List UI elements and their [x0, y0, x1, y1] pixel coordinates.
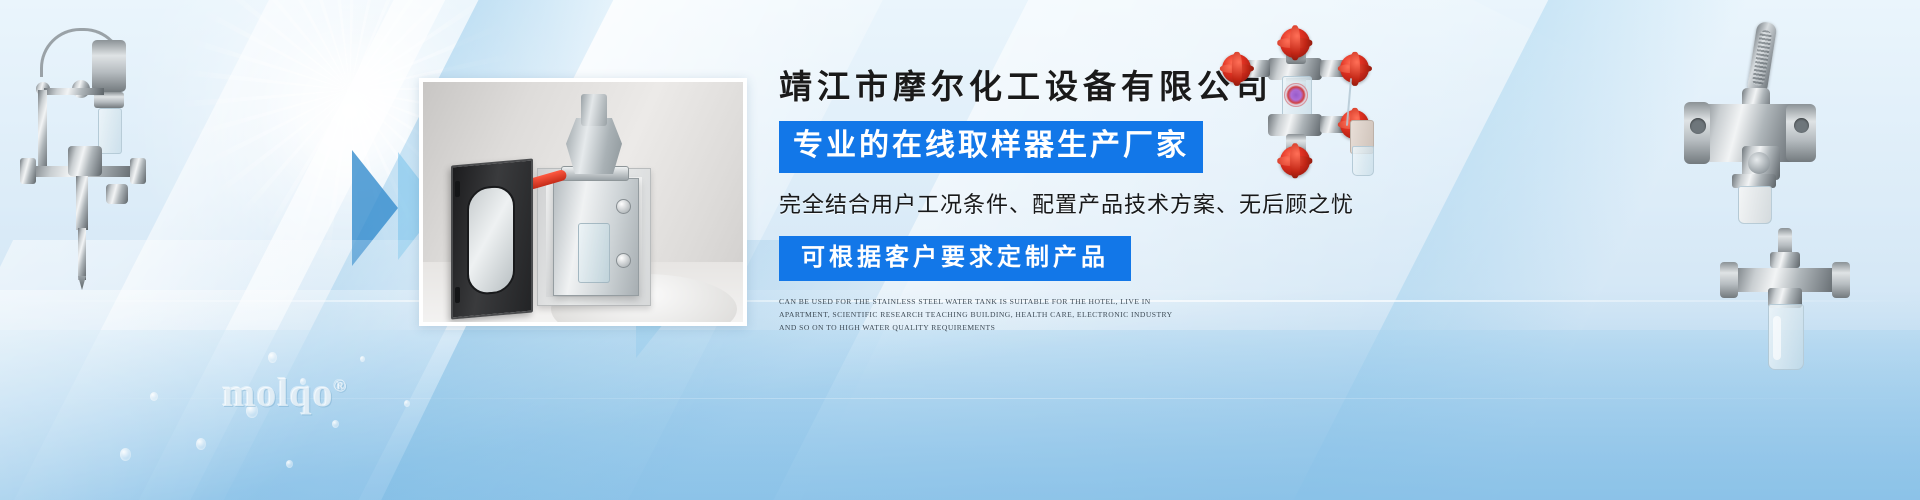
english-description: CAN BE USED FOR THE STAINLESS STEEL WATE… [779, 295, 1181, 334]
hardware-cross-manifold-sampler [1216, 28, 1376, 160]
subline-text: 完全结合用户工况条件、配置产品技术方案、无后顾之忧 [779, 190, 1399, 220]
photo-cabinet-door [451, 158, 533, 319]
product-photo-online-sampler [419, 78, 747, 326]
promotional-banner: 靖江市摩尔化工设备有限公司 专业的在线取样器生产厂家 完全结合用户工况条件、配置… [0, 0, 1920, 500]
water-droplet [332, 420, 339, 428]
headline-secondary-wrap: 可根据客户要求定制产品 [779, 236, 1399, 281]
photo-sampler-body [553, 178, 639, 296]
watermark-text: molqo [222, 370, 334, 415]
hardware-sampling-probe-assembly [10, 18, 170, 288]
hardware-lever-sampling-valve [1670, 22, 1830, 222]
water-droplet [404, 400, 410, 407]
hardware-inline-sampling-valve [1716, 228, 1866, 378]
photo-valve-head [566, 118, 622, 174]
water-droplet [120, 448, 131, 461]
watermark-registered-mark: ® [334, 377, 348, 396]
chevron-accent [352, 150, 398, 266]
watermark-logo: molqo® [222, 369, 347, 416]
water-droplet [268, 352, 277, 363]
water-droplet [286, 460, 293, 468]
water-droplet [196, 438, 206, 450]
water-droplet [360, 356, 365, 362]
headline-primary: 专业的在线取样器生产厂家 [779, 121, 1203, 173]
water-droplet [150, 392, 158, 401]
photo-top-fitting [581, 94, 607, 126]
headline-secondary: 可根据客户要求定制产品 [779, 236, 1131, 281]
seal-stamp-icon [1284, 83, 1308, 107]
